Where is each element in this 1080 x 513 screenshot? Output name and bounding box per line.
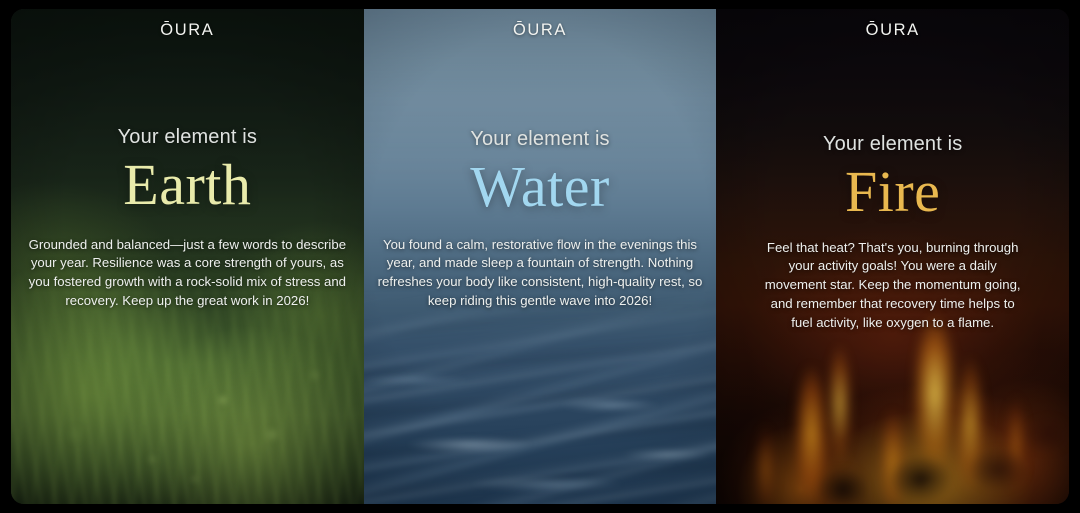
- earth-card-content: ŌURA Your element is Earth Grounded and …: [11, 9, 364, 504]
- element-card-earth[interactable]: ŌURA Your element is Earth Grounded and …: [11, 9, 364, 504]
- element-description-fire: Feel that heat? That's you, burning thro…: [762, 239, 1024, 333]
- element-name-earth: Earth: [123, 155, 251, 214]
- screenshot-stage: ŌURA Your element is Earth Grounded and …: [0, 0, 1080, 513]
- element-name-water: Water: [470, 157, 610, 216]
- eyebrow-label-water: Your element is: [470, 127, 609, 151]
- element-card-fire[interactable]: ŌURA Your element is Fire Feel that heat…: [716, 9, 1069, 504]
- oura-logo-earth: ŌURA: [160, 22, 214, 39]
- oura-logo-water: ŌURA: [513, 22, 567, 39]
- element-card-water[interactable]: ŌURA Your element is Water You found a c…: [364, 9, 717, 504]
- element-cards-row: ŌURA Your element is Earth Grounded and …: [11, 9, 1069, 504]
- water-card-content: ŌURA Your element is Water You found a c…: [364, 9, 717, 504]
- eyebrow-label-fire: Your element is: [823, 132, 962, 156]
- element-description-earth: Grounded and balanced—just a few words t…: [22, 236, 352, 311]
- eyebrow-label-earth: Your element is: [118, 125, 257, 149]
- oura-logo-fire: ŌURA: [866, 22, 920, 39]
- element-name-fire: Fire: [845, 162, 940, 221]
- element-description-water: You found a calm, restorative flow in th…: [375, 236, 705, 311]
- fire-card-content: ŌURA Your element is Fire Feel that heat…: [716, 9, 1069, 504]
